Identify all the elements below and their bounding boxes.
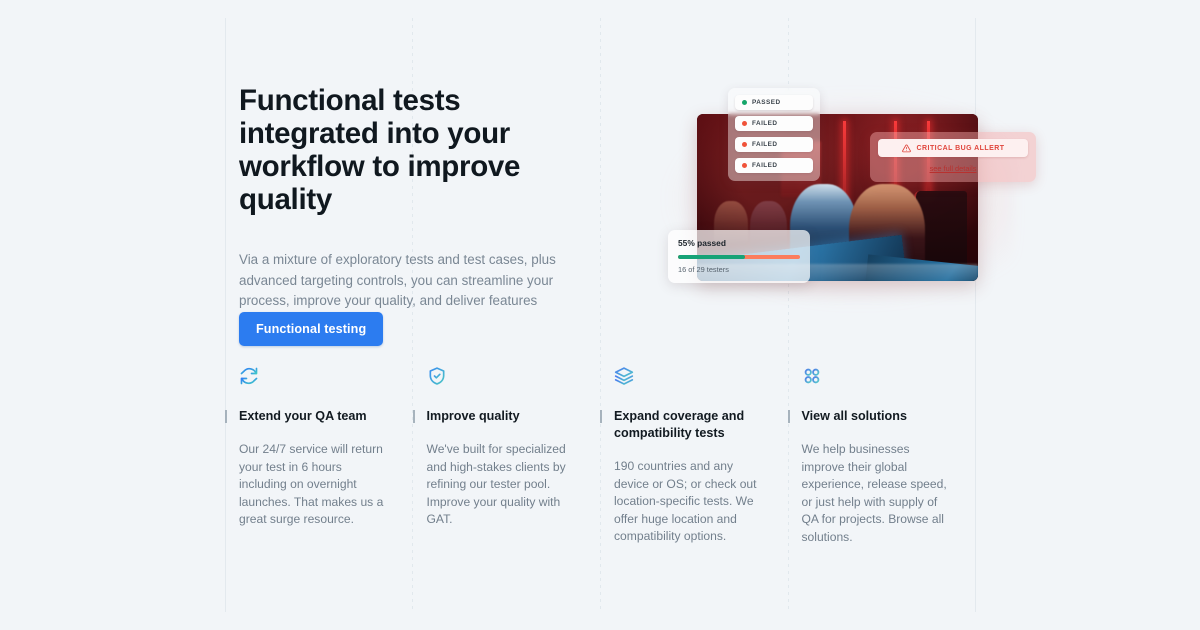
shield-check-icon: [427, 366, 447, 386]
pass-rate-progress-fill: [678, 255, 745, 259]
grid-four-icon: [802, 366, 822, 386]
status-pill: PASSED: [735, 95, 813, 110]
pass-rate-title: 55% passed: [678, 238, 800, 248]
status-dot-passed-icon: [742, 100, 747, 105]
status-pill-label: FAILED: [752, 162, 777, 169]
status-pill: FAILED: [735, 137, 813, 152]
status-pill-label: FAILED: [752, 120, 777, 127]
feature-column-improve-quality[interactable]: Improve quality We've built for speciali…: [413, 366, 601, 547]
feature-heading-wrap: Improve quality: [427, 408, 575, 425]
heading-accent-bar: [225, 410, 227, 423]
hero-media-block: PASSED FAILED FAILED FAILED: [660, 78, 1020, 318]
test-status-card: PASSED FAILED FAILED FAILED: [728, 88, 820, 181]
status-dot-failed-icon: [742, 142, 747, 147]
critical-bug-alert-label: CRITICAL BUG ALLERT: [917, 145, 1005, 152]
page-stage: Functional tests integrated into your wo…: [0, 0, 1200, 630]
heading-accent-bar: [413, 410, 415, 423]
feature-column-expand-coverage[interactable]: Expand coverage and compatibility tests …: [600, 366, 788, 547]
feature-columns: Extend your QA team Our 24/7 service wil…: [225, 366, 975, 547]
critical-bug-alert-card: CRITICAL BUG ALLERT see full details: [870, 132, 1036, 182]
hero-text-block: Functional tests integrated into your wo…: [239, 84, 584, 332]
see-full-details-link[interactable]: see full details: [878, 164, 1028, 173]
warning-triangle-icon: [902, 144, 911, 153]
pass-rate-card: 55% passed 16 of 29 testers: [668, 230, 810, 283]
page-title: Functional tests integrated into your wo…: [239, 84, 584, 216]
heading-accent-bar: [788, 410, 790, 423]
feature-title: Improve quality: [427, 408, 575, 425]
feature-body: We help businesses improve their global …: [802, 425, 950, 547]
status-pill: FAILED: [735, 158, 813, 173]
critical-bug-alert-bar: CRITICAL BUG ALLERT: [878, 139, 1028, 157]
feature-column-extend-your-qa-team[interactable]: Extend your QA team Our 24/7 service wil…: [225, 366, 413, 547]
layers-stack-icon: [614, 366, 634, 386]
pass-rate-progressbar: [678, 255, 800, 259]
feature-heading-wrap: Extend your QA team: [239, 408, 387, 425]
status-dot-failed-icon: [742, 121, 747, 126]
feature-body: 190 countries and any device or OS; or c…: [614, 442, 762, 546]
feature-heading-wrap: View all solutions: [802, 408, 950, 425]
heading-accent-bar: [600, 410, 602, 423]
status-pill: FAILED: [735, 116, 813, 131]
feature-title: Extend your QA team: [239, 408, 387, 425]
refresh-sync-icon: [239, 366, 259, 386]
feature-title: Expand coverage and compatibility tests: [614, 408, 762, 442]
feature-column-view-all-solutions[interactable]: View all solutions We help businesses im…: [788, 366, 976, 547]
feature-body: We've built for specialized and high-sta…: [427, 425, 575, 529]
pass-rate-meta: 16 of 29 testers: [678, 265, 800, 274]
feature-heading-wrap: Expand coverage and compatibility tests: [614, 408, 762, 442]
status-pill-label: PASSED: [752, 99, 781, 106]
functional-testing-button[interactable]: Functional testing: [239, 312, 383, 346]
feature-title: View all solutions: [802, 408, 950, 425]
feature-body: Our 24/7 service will return your test i…: [239, 425, 387, 529]
status-dot-failed-icon: [742, 163, 747, 168]
status-pill-label: FAILED: [752, 141, 777, 148]
